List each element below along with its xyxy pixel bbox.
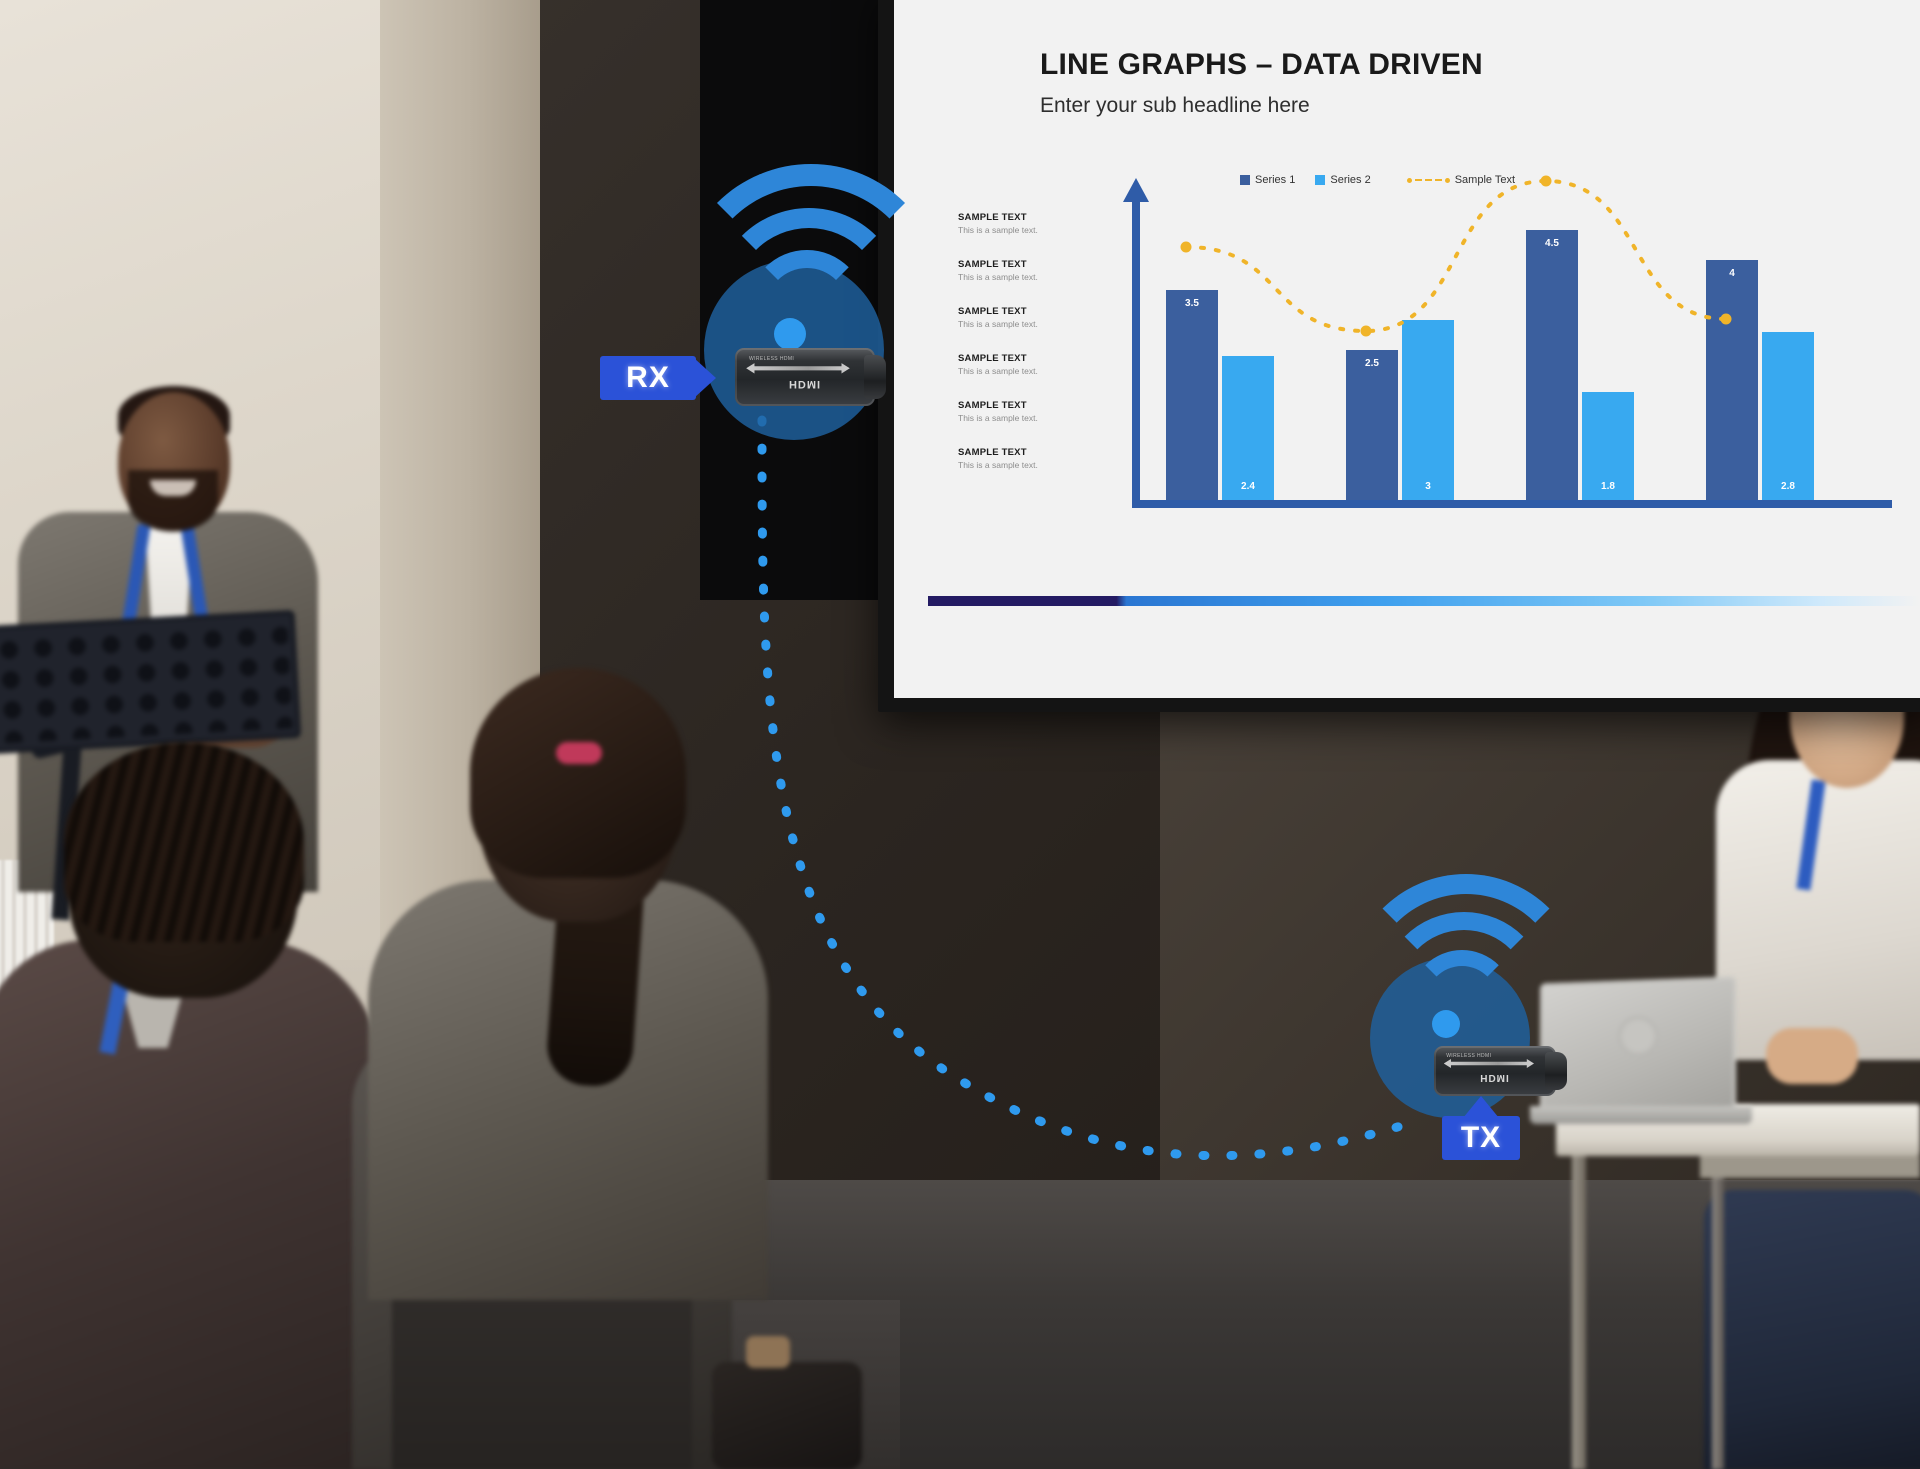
slide-sidebar-list: SAMPLE TEXTThis is a sample text.SAMPLE …: [958, 212, 1118, 494]
receiver-dongle-micro-label: WIRELESS HDMI: [749, 356, 794, 362]
bar: 3.5: [1166, 290, 1218, 500]
wifi-dot-icon: [1432, 1010, 1460, 1038]
bar: 2.8: [1762, 332, 1814, 500]
tx-tag-label: TX: [1461, 1121, 1501, 1155]
sidebar-text-block: SAMPLE TEXTThis is a sample text.: [958, 447, 1118, 470]
bar-group: 42.8: [1706, 200, 1814, 500]
transmitter-dongle-cap: [1545, 1052, 1567, 1090]
bar-value-label: 4: [1706, 268, 1758, 279]
sidebar-body: This is a sample text.: [958, 366, 1118, 376]
lectern-perforations: [0, 620, 293, 743]
wifi-arc-inner-icon: [1410, 950, 1514, 1054]
legend-swatch-icon: [1240, 175, 1250, 185]
slide-subtitle: Enter your sub headline here: [1040, 94, 1310, 118]
legend-dotted-line-icon: [1407, 178, 1450, 183]
sidebar-heading: SAMPLE TEXT: [958, 212, 1118, 223]
bar-group: 4.51.8: [1526, 200, 1634, 500]
legend-label: Sample Text: [1455, 174, 1515, 186]
bar-value-label: 1.8: [1582, 481, 1634, 492]
screenshot-root: LINE GRAPHS – DATA DRIVEN Enter your sub…: [0, 0, 1920, 1469]
chart-legend: Series 1Series 2Sample Text: [1240, 174, 1515, 186]
bar-value-label: 2.4: [1222, 481, 1274, 492]
legend-item: Series 1: [1240, 174, 1295, 186]
laptop-user-legs: [1704, 1190, 1920, 1469]
table-edge: [1700, 1156, 1920, 1178]
bar: 4: [1706, 260, 1758, 500]
audience-center-hair: [470, 668, 686, 878]
sidebar-text-block: SAMPLE TEXTThis is a sample text.: [958, 212, 1118, 235]
table-leg-left: [1572, 1156, 1586, 1469]
sidebar-heading: SAMPLE TEXT: [958, 259, 1118, 270]
bar-chart: Series 1Series 2Sample Text 3.52.42.534.…: [1132, 170, 1892, 500]
bar: 2.5: [1346, 350, 1398, 500]
tx-tag-pointer-icon: [1463, 1096, 1499, 1118]
legend-item: Series 2: [1315, 174, 1370, 186]
presentation-slide: LINE GRAPHS – DATA DRIVEN Enter your sub…: [894, 0, 1920, 698]
bar: 2.4: [1222, 356, 1274, 500]
bar-group: 3.52.4: [1166, 200, 1274, 500]
legend-label: Series 2: [1330, 174, 1370, 186]
receiver-wifi-group: [690, 172, 930, 452]
sidebar-heading: SAMPLE TEXT: [958, 353, 1118, 364]
sidebar-body: This is a sample text.: [958, 460, 1118, 470]
receiver-dongle-label: HDMI: [735, 378, 875, 390]
sidebar-text-block: SAMPLE TEXTThis is a sample text.: [958, 400, 1118, 423]
chart-y-axis: [1132, 200, 1140, 500]
bar-value-label: 4.5: [1526, 238, 1578, 249]
legend-label: Series 1: [1255, 174, 1295, 186]
chart-x-axis: [1132, 500, 1892, 508]
receiver-dongle-cap: [864, 355, 886, 399]
sidebar-text-block: SAMPLE TEXTThis is a sample text.: [958, 306, 1118, 329]
laptop-user-hand: [1766, 1028, 1858, 1084]
audience-watch: [746, 1336, 790, 1368]
slide-footer-bar: [928, 596, 1920, 606]
sidebar-heading: SAMPLE TEXT: [958, 400, 1118, 411]
sidebar-heading: SAMPLE TEXT: [958, 306, 1118, 317]
chart-axis-arrow-icon: [1123, 178, 1149, 202]
bar: 3: [1402, 320, 1454, 500]
transmitter-dongle-label: HDMI: [1434, 1072, 1556, 1083]
bar-value-label: 3: [1402, 481, 1454, 492]
table-leg-right: [1712, 1178, 1724, 1469]
rx-tag[interactable]: RX: [600, 356, 696, 400]
rx-tag-pointer-icon: [694, 358, 716, 398]
legend-swatch-icon: [1315, 175, 1325, 185]
sidebar-body: This is a sample text.: [958, 413, 1118, 423]
wifi-dot-icon: [774, 318, 806, 350]
transmitter-dongle-micro-label: WIRELESS HDMI: [1446, 1053, 1491, 1059]
sidebar-text-block: SAMPLE TEXTThis is a sample text.: [958, 259, 1118, 282]
sidebar-body: This is a sample text.: [958, 319, 1118, 329]
sidebar-body: This is a sample text.: [958, 272, 1118, 282]
audience-center-hair-tie: [556, 742, 602, 764]
audience-bag: [712, 1362, 862, 1469]
chart-bars: 3.52.42.534.51.842.8: [1146, 200, 1892, 500]
legend-item-overlay: Sample Text: [1407, 174, 1515, 186]
bar-group: 2.53: [1346, 200, 1454, 500]
bar-value-label: 2.8: [1762, 481, 1814, 492]
slide-title: LINE GRAPHS – DATA DRIVEN: [1040, 48, 1483, 82]
audience-left-hair: [64, 742, 304, 942]
receiver-dongle: WIRELESS HDMI HDMI: [735, 348, 875, 406]
sidebar-text-block: SAMPLE TEXTThis is a sample text.: [958, 353, 1118, 376]
audience-left-torso: [0, 940, 380, 1469]
bar: 4.5: [1526, 230, 1578, 500]
sidebar-body: This is a sample text.: [958, 225, 1118, 235]
transmitter-dongle: WIRELESS HDMI HDMI: [1434, 1046, 1556, 1096]
bar-value-label: 2.5: [1346, 358, 1398, 369]
tx-tag[interactable]: TX: [1442, 1116, 1520, 1160]
laptop-logo: [1618, 1016, 1658, 1056]
rx-tag-label: RX: [626, 361, 670, 395]
sidebar-heading: SAMPLE TEXT: [958, 447, 1118, 458]
bar-value-label: 3.5: [1166, 298, 1218, 309]
bar: 1.8: [1582, 392, 1634, 500]
